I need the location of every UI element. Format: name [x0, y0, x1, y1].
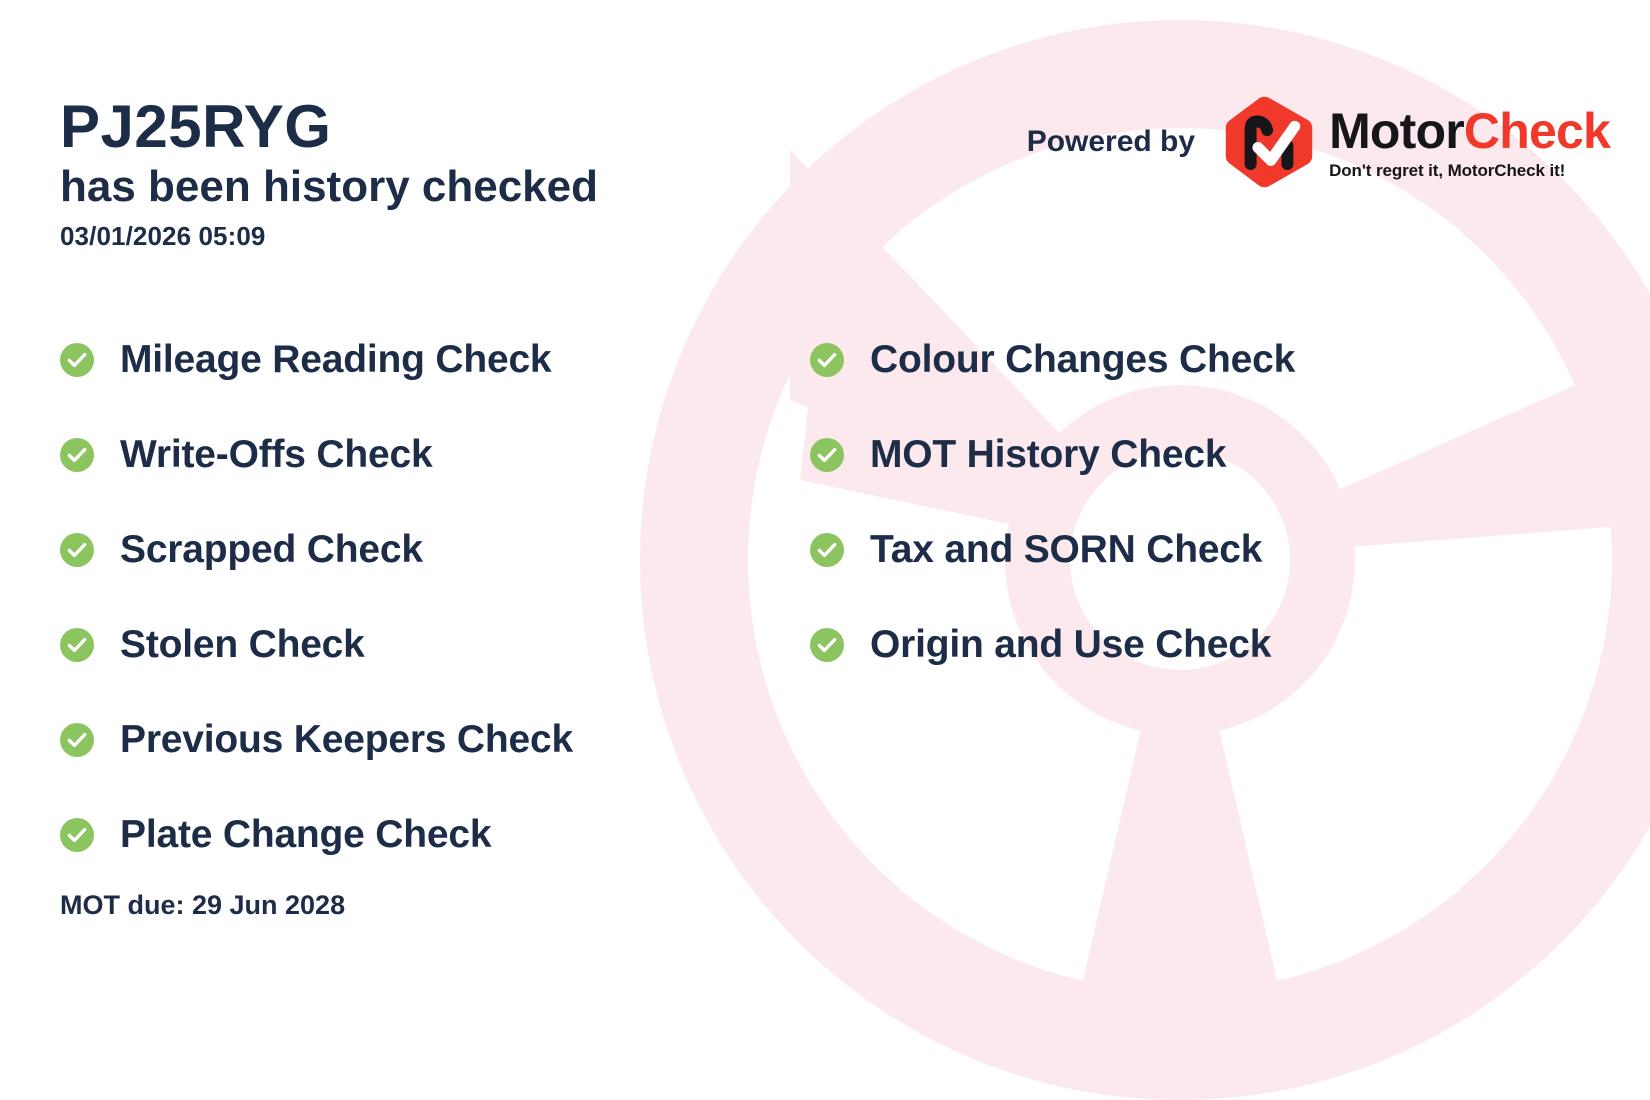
check-item: Origin and Use Check	[810, 597, 1570, 692]
check-circle-icon	[60, 533, 94, 567]
check-circle-icon	[810, 533, 844, 567]
checks-right-column: Colour Changes Check MOT History Check T…	[810, 312, 1570, 882]
check-label: Origin and Use Check	[870, 623, 1271, 667]
check-circle-icon	[60, 628, 94, 662]
check-item: Colour Changes Check	[810, 312, 1570, 407]
check-item: Previous Keepers Check	[60, 692, 810, 787]
check-item: MOT History Check	[810, 407, 1570, 502]
check-label: Write-Offs Check	[120, 433, 432, 477]
motorcheck-logo[interactable]: MotorCheck Don't regret it, MotorCheck i…	[1223, 96, 1610, 188]
mot-due-text: MOT due: 29 Jun 2028	[60, 890, 345, 921]
check-label: Stolen Check	[120, 623, 365, 667]
motorcheck-hexagon-icon	[1223, 96, 1315, 188]
motorcheck-wordmark: MotorCheck Don't regret it, MotorCheck i…	[1329, 106, 1610, 179]
check-circle-icon	[60, 343, 94, 377]
check-circle-icon	[810, 628, 844, 662]
check-item: Mileage Reading Check	[60, 312, 810, 407]
logo-word-motor: Motor	[1329, 103, 1464, 159]
check-item: Write-Offs Check	[60, 407, 810, 502]
powered-by-block: Powered by MotorCheck Don't regret it, M…	[1027, 96, 1610, 188]
check-circle-icon	[810, 438, 844, 472]
checks-grid: Mileage Reading Check Write-Offs Check S…	[60, 312, 1580, 882]
check-circle-icon	[60, 818, 94, 852]
page-title: has been history checked	[60, 161, 598, 213]
check-label: Plate Change Check	[120, 813, 491, 857]
check-label: MOT History Check	[870, 433, 1226, 477]
powered-by-label: Powered by	[1027, 125, 1195, 159]
check-timestamp: 03/01/2026 05:09	[60, 221, 598, 252]
vehicle-history-check-card: PJ25RYG has been history checked 03/01/2…	[0, 0, 1650, 1100]
check-circle-icon	[60, 438, 94, 472]
logo-word-check: Check	[1464, 103, 1610, 159]
check-label: Colour Changes Check	[870, 338, 1295, 382]
check-label: Previous Keepers Check	[120, 718, 573, 762]
check-item: Stolen Check	[60, 597, 810, 692]
check-item: Tax and SORN Check	[810, 502, 1570, 597]
logo-tagline: Don't regret it, MotorCheck it!	[1329, 162, 1610, 179]
check-circle-icon	[60, 723, 94, 757]
check-item: Scrapped Check	[60, 502, 810, 597]
registration-plate: PJ25RYG	[60, 96, 598, 157]
check-item: Plate Change Check	[60, 787, 810, 882]
checks-left-column: Mileage Reading Check Write-Offs Check S…	[60, 312, 810, 882]
check-circle-icon	[810, 343, 844, 377]
header-block: PJ25RYG has been history checked 03/01/2…	[60, 96, 598, 252]
check-label: Scrapped Check	[120, 528, 423, 572]
check-label: Mileage Reading Check	[120, 338, 551, 382]
check-label: Tax and SORN Check	[870, 528, 1262, 572]
